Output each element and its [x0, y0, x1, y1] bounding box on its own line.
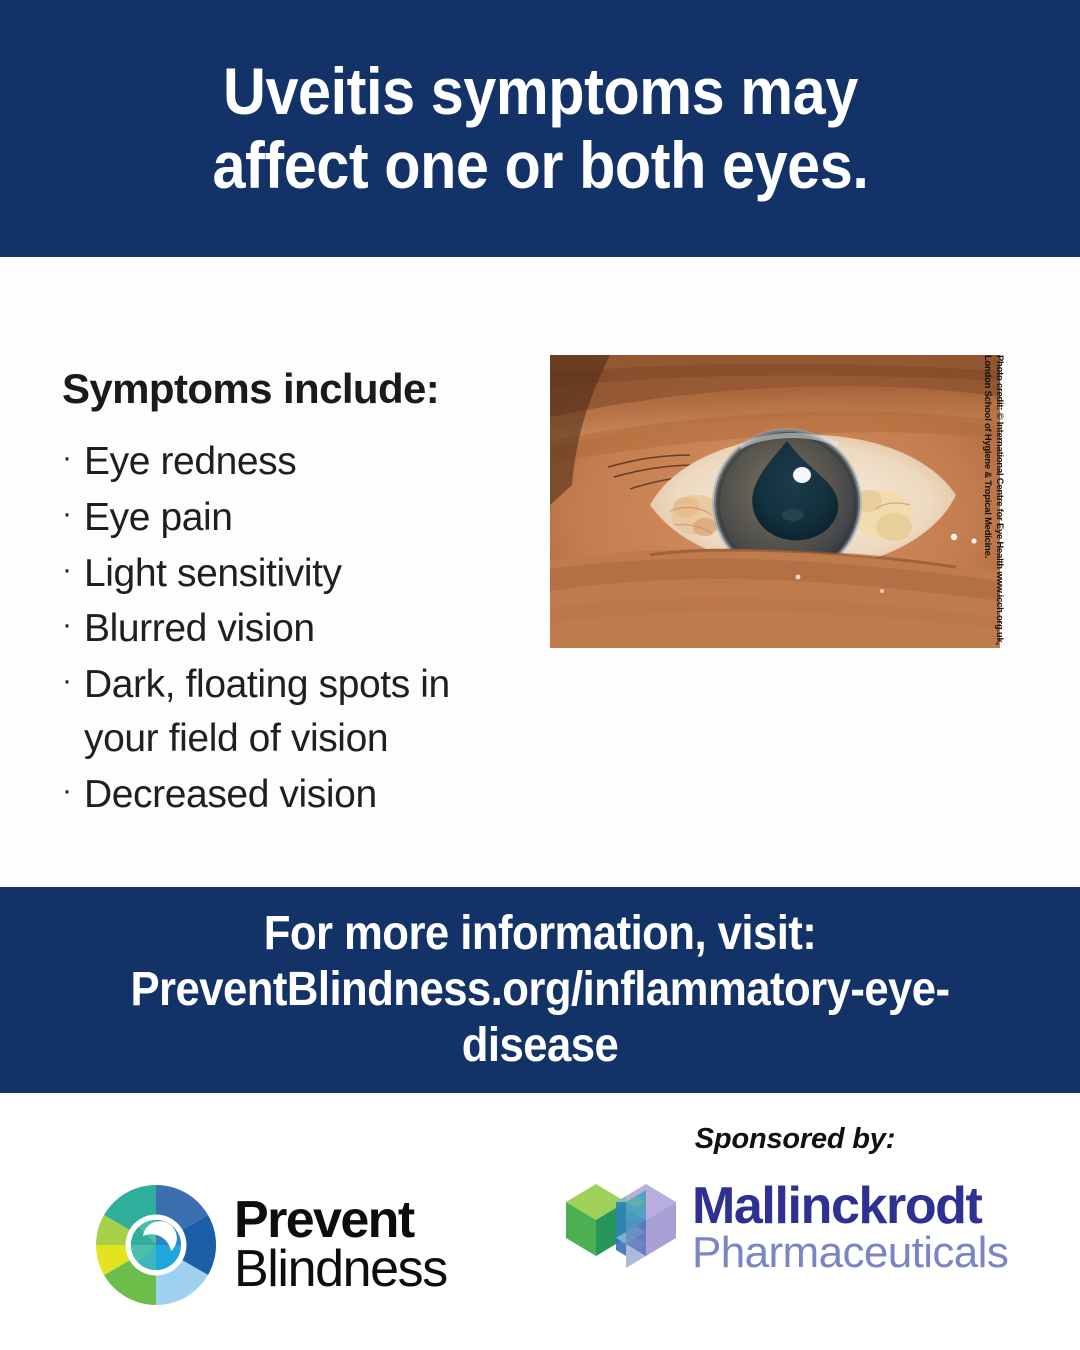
prevent-blindness-word-blindness: Blindness [234, 1245, 447, 1294]
prevent-blindness-logo: Prevent Blindness [92, 1181, 447, 1309]
list-item: · Light sensitivity [62, 547, 532, 601]
list-item-label: Light sensitivity [84, 547, 532, 601]
symptoms-list: · Eye redness · Eye pain · Light sensiti… [62, 435, 532, 822]
cta-band: For more information, visit: PreventBlin… [0, 887, 1080, 1093]
symptoms-section: Symptoms include: · Eye redness · Eye pa… [62, 365, 532, 824]
list-item-label: Dark, floating spots in your field of vi… [84, 658, 532, 766]
main-content: Symptoms include: · Eye redness · Eye pa… [0, 257, 1080, 887]
mallinckrodt-logo: Mallinckrodt Pharmaceuticals [560, 1170, 1030, 1286]
bullet-icon: · [62, 658, 84, 705]
bullet-icon: · [62, 768, 84, 815]
mallinckrodt-wordmark: Mallinckrodt Pharmaceuticals [692, 1183, 1008, 1273]
prevent-blindness-eye-icon [92, 1181, 220, 1309]
header-band: Uveitis symptoms may affect one or both … [0, 0, 1080, 257]
headline-line-2: affect one or both eyes. [212, 128, 868, 202]
list-item-label: Eye redness [84, 435, 532, 489]
mallinckrodt-cubes-icon [560, 1170, 682, 1286]
mallinckrodt-name: Mallinckrodt [692, 1183, 1008, 1231]
footer: Prevent Blindness Sponsored by: [0, 1093, 1080, 1350]
bullet-icon: · [62, 491, 84, 538]
bullet-icon: · [62, 547, 84, 594]
sponsored-by-label: Sponsored by: [560, 1123, 1030, 1156]
cta-text: For more information, visit: PreventBlin… [49, 906, 1032, 1073]
list-item: · Blurred vision [62, 602, 532, 656]
prevent-blindness-word-prevent: Prevent [234, 1196, 447, 1245]
list-item-label: Decreased vision [84, 768, 532, 822]
symptoms-heading: Symptoms include: [62, 365, 532, 413]
bullet-icon: · [62, 602, 84, 649]
list-item: · Eye pain [62, 491, 532, 545]
uveitis-eye-photo [550, 355, 1000, 648]
photo-credit-text: Photo credit: © International Centre for… [982, 355, 1006, 648]
sponsor-section: Sponsored by: [560, 1123, 1030, 1286]
uveitis-symptoms-poster: Uveitis symptoms may affect one or both … [0, 0, 1080, 1350]
mallinckrodt-tagline: Pharmaceuticals [692, 1233, 1008, 1273]
bullet-icon: · [62, 435, 84, 482]
cta-line-1: For more information, visit: [264, 907, 817, 960]
list-item: · Eye redness [62, 435, 532, 489]
list-item: · Decreased vision [62, 768, 532, 822]
list-item-label: Blurred vision [84, 602, 532, 656]
prevent-blindness-wordmark: Prevent Blindness [234, 1196, 447, 1294]
eye-photo-container: Photo credit: © International Centre for… [550, 355, 1000, 648]
page-title: Uveitis symptoms may affect one or both … [176, 55, 904, 203]
headline-line-1: Uveitis symptoms may [223, 54, 858, 128]
list-item-label: Eye pain [84, 491, 532, 545]
cta-url[interactable]: PreventBlindness.org/inflammatory-eye-di… [130, 963, 949, 1072]
list-item: · Dark, floating spots in your field of … [62, 658, 532, 766]
